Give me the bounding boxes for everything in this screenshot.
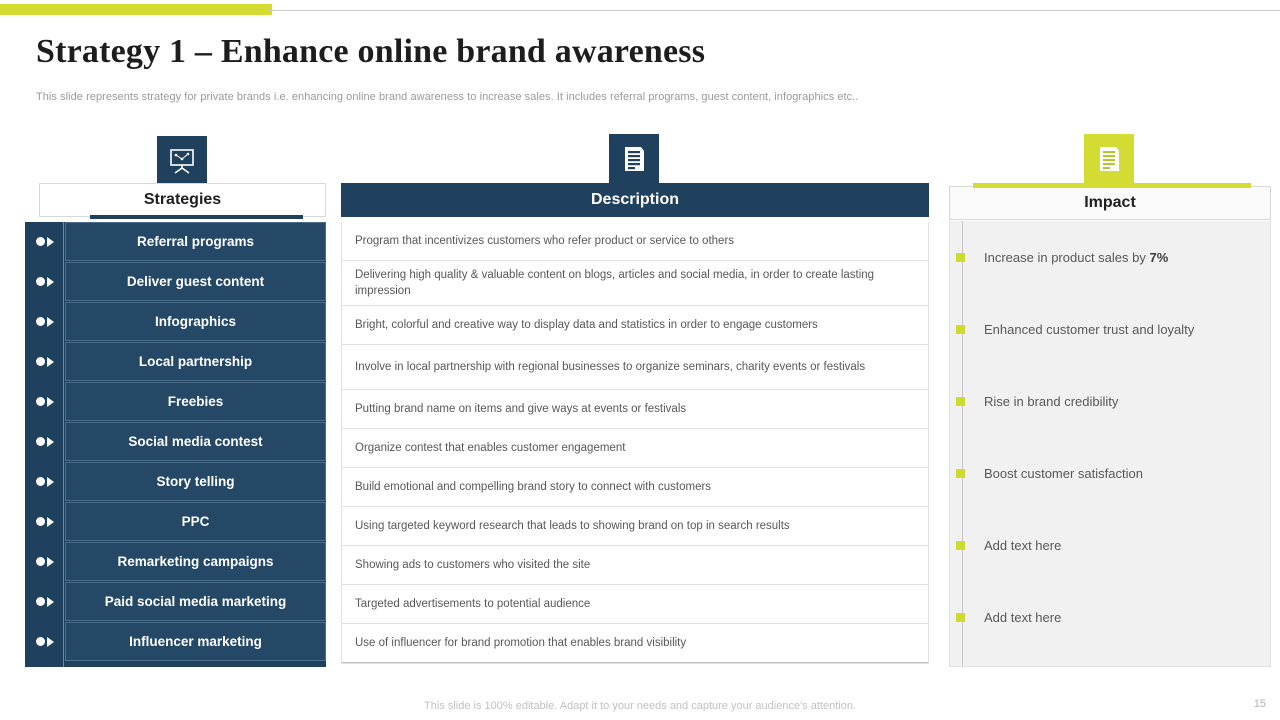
strategy-row[interactable]: Influencer marketing (25, 622, 326, 661)
timeline-marker-icon (25, 422, 63, 461)
bullet-square-icon (956, 325, 965, 334)
description-row: Putting brand name on items and give way… (342, 390, 928, 429)
impact-item: Add text here (950, 509, 1270, 581)
strategy-label: Local partnership (65, 342, 326, 381)
strategy-label: Social media contest (65, 422, 326, 461)
timeline-marker-icon (25, 462, 63, 501)
description-row: Use of influencer for brand promotion th… (342, 624, 928, 663)
strategy-row[interactable]: Deliver guest content (25, 262, 326, 301)
description-text: Bright, colorful and creative way to dis… (355, 317, 818, 333)
bullet-square-icon (956, 253, 965, 262)
strategy-label: Remarketing campaigns (65, 542, 326, 581)
top-divider-line (270, 10, 1280, 11)
top-accent-bar (0, 4, 272, 15)
description-row: Program that incentivizes customers who … (342, 222, 928, 261)
column-header-impact: Impact (949, 186, 1271, 220)
strategy-label: Freebies (65, 382, 326, 421)
description-text: Targeted advertisements to potential aud… (355, 596, 590, 612)
strategy-row[interactable]: Paid social media marketing (25, 582, 326, 621)
strategy-label: PPC (65, 502, 326, 541)
page-number: 15 (1254, 698, 1266, 710)
impact-text: Boost customer satisfaction (984, 466, 1143, 481)
document-lines-icon (1084, 134, 1134, 184)
description-text: Use of influencer for brand promotion th… (355, 635, 686, 651)
description-text: Putting brand name on items and give way… (355, 401, 686, 417)
strategy-label: Paid social media marketing (65, 582, 326, 621)
description-list: Program that incentivizes customers who … (341, 222, 929, 664)
strategy-row[interactable]: Referral programs (25, 222, 326, 261)
strategy-row[interactable]: Freebies (25, 382, 326, 421)
strategy-row[interactable]: Remarketing campaigns (25, 542, 326, 581)
description-row: Targeted advertisements to potential aud… (342, 585, 928, 624)
timeline-marker-icon (25, 342, 63, 381)
strategies-list: Referral programsDeliver guest contentIn… (25, 222, 326, 667)
bullet-square-icon (956, 613, 965, 622)
timeline-marker-icon (25, 302, 63, 341)
description-row: Showing ads to customers who visited the… (342, 546, 928, 585)
impact-text: Increase in product sales by 7% (984, 250, 1168, 265)
impact-item: Boost customer satisfaction (950, 437, 1270, 509)
strategy-row[interactable]: Story telling (25, 462, 326, 501)
impact-item: Enhanced customer trust and loyalty (950, 293, 1270, 365)
timeline-marker-icon (25, 222, 63, 261)
strategy-label: Infographics (65, 302, 326, 341)
description-text: Involve in local partnership with region… (355, 359, 865, 375)
strategy-row[interactable]: Local partnership (25, 342, 326, 381)
description-text: Program that incentivizes customers who … (355, 233, 734, 249)
page-title: Strategy 1 – Enhance online brand awaren… (36, 33, 705, 71)
description-text: Delivering high quality & valuable conte… (355, 267, 915, 299)
description-row: Build emotional and compelling brand sto… (342, 468, 928, 507)
page-subtitle: This slide represents strategy for priva… (36, 91, 858, 103)
impact-text: Rise in brand credibility (984, 394, 1118, 409)
description-text: Showing ads to customers who visited the… (355, 557, 590, 573)
description-row: Bright, colorful and creative way to dis… (342, 306, 928, 345)
impact-item: Increase in product sales by 7% (950, 221, 1270, 293)
bullet-square-icon (956, 469, 965, 478)
strategy-label: Deliver guest content (65, 262, 326, 301)
timeline-marker-icon (25, 502, 63, 541)
timeline-marker-icon (25, 582, 63, 621)
impact-item: Add text here (950, 581, 1270, 653)
strategy-label: Story telling (65, 462, 326, 501)
impact-item: Rise in brand credibility (950, 365, 1270, 437)
slide-canvas: Strategy 1 – Enhance online brand awaren… (0, 0, 1280, 720)
strategy-row[interactable]: PPC (25, 502, 326, 541)
strategy-label: Referral programs (65, 222, 326, 261)
impact-text: Add text here (984, 610, 1061, 625)
strategy-row[interactable]: Social media contest (25, 422, 326, 461)
presentation-board-icon (157, 136, 207, 186)
footer-note: This slide is 100% editable. Adapt it to… (0, 700, 1280, 712)
strategy-label: Influencer marketing (65, 622, 326, 661)
impact-text: Add text here (984, 538, 1061, 553)
timeline-marker-icon (25, 622, 63, 661)
description-text: Build emotional and compelling brand sto… (355, 479, 711, 495)
column-header-description: Description (341, 183, 929, 217)
timeline-marker-icon (25, 542, 63, 581)
column-header-strategies: Strategies (39, 183, 326, 217)
description-row: Using targeted keyword research that lea… (342, 507, 928, 546)
bullet-square-icon (956, 397, 965, 406)
impact-text: Enhanced customer trust and loyalty (984, 322, 1194, 337)
description-text: Organize contest that enables customer e… (355, 440, 625, 456)
description-row: Involve in local partnership with region… (342, 345, 928, 390)
document-lines-icon (609, 134, 659, 184)
description-row: Organize contest that enables customer e… (342, 429, 928, 468)
timeline-marker-icon (25, 262, 63, 301)
bullet-square-icon (956, 541, 965, 550)
timeline-marker-icon (25, 382, 63, 421)
impact-list: Increase in product sales by 7%Enhanced … (949, 221, 1271, 667)
description-text: Using targeted keyword research that lea… (355, 518, 790, 534)
strategy-row[interactable]: Infographics (25, 302, 326, 341)
description-row: Delivering high quality & valuable conte… (342, 261, 928, 306)
